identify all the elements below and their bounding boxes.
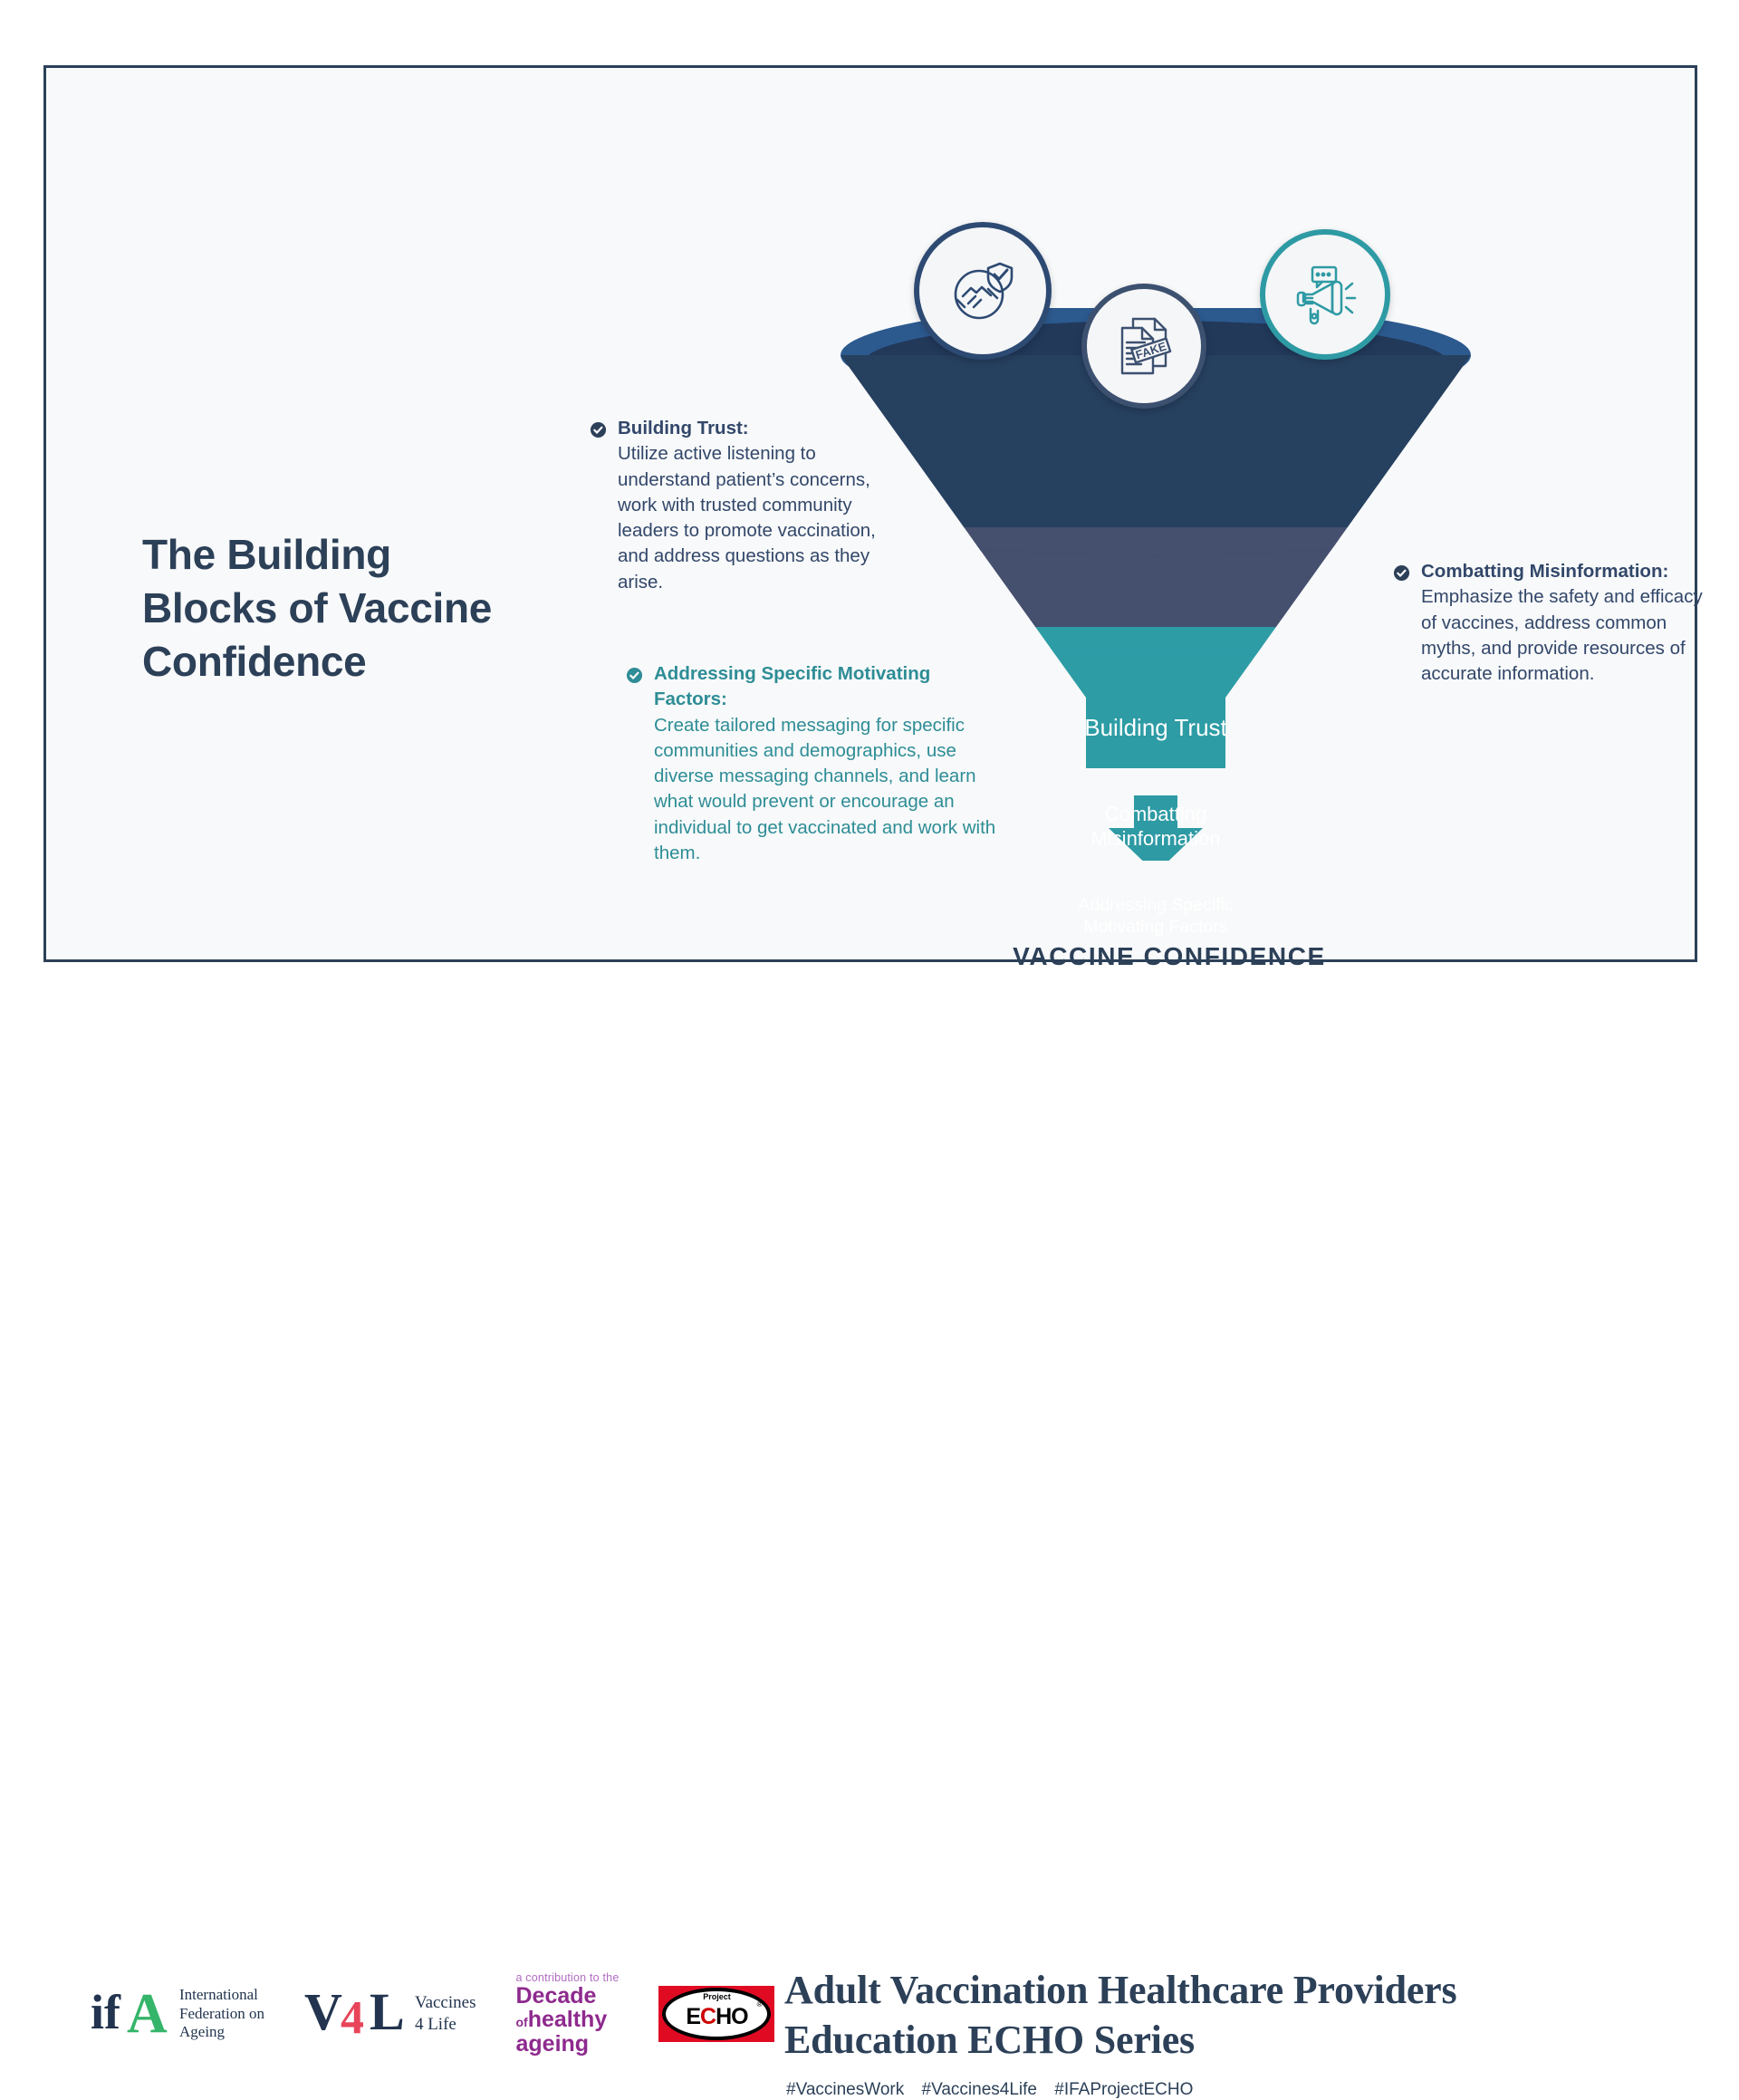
ifa-words-line1: International <box>179 1986 264 2005</box>
decade-healthy-text: healthy <box>528 2007 608 2032</box>
page-title-line3: Confidence <box>142 635 532 689</box>
bullet-text: Building Trust: Utilize active listening… <box>618 416 898 595</box>
echo-project-text: Project <box>703 1992 731 2001</box>
funnel-label-addr-line2: Motivating Factors <box>821 917 1491 939</box>
bullet-text: Combatting Misinformation: Emphasize the… <box>1421 559 1715 687</box>
footer-hashtags: #VaccinesWork #Vaccines4Life #IFAProject… <box>786 2080 1206 2100</box>
megaphone-glyph <box>1289 258 1361 331</box>
v4l-words-line1: Vaccines <box>415 1992 476 2014</box>
check-circle-icon <box>626 667 643 866</box>
ifa-mark-icon: if A <box>91 1986 168 2042</box>
hashtag-vaccines-work: #VaccinesWork <box>786 2080 904 2099</box>
echo-letter-e: E <box>686 2004 700 2029</box>
funnel-label-addressing-factors: Addressing Specific Motivating Factors <box>821 895 1491 939</box>
page-title-line1: The Building <box>142 528 532 582</box>
funnel-label-addr-line1: Addressing Specific <box>821 895 1491 917</box>
ifa-words-line3: Ageing <box>179 2023 264 2042</box>
v4l-mark-v: V <box>304 1986 342 2038</box>
vaccines4life-logo: V 4 L Vaccines 4 Life <box>304 1986 476 2042</box>
echo-letters-ho: HO <box>716 2004 748 2029</box>
echo-wordmark: ECHO <box>686 2004 747 2030</box>
bullet-combatting-misinformation: Combatting Misinformation: Emphasize the… <box>1393 559 1715 687</box>
ifa-mark-a: A <box>127 1986 168 2042</box>
handshake-shield-glyph <box>945 253 1021 329</box>
bullet-text: Addressing Specific Motivating Factors: … <box>654 661 1006 866</box>
page-title: The Building Blocks of Vaccine Confidenc… <box>142 528 532 689</box>
check-circle-icon <box>590 421 607 595</box>
hashtag-vaccines-4-life: #Vaccines4Life <box>922 2080 1037 2099</box>
decade-word-ageing: ageing <box>515 2032 619 2057</box>
v4l-mark-l: L <box>370 1986 405 2038</box>
bullet-body: Utilize active listening to understand p… <box>618 443 876 592</box>
funnel-layer-misinformation <box>821 527 1491 627</box>
hashtag-ifa-project-echo: #IFAProjectECHO <box>1054 2080 1193 2099</box>
v4l-logo-words: Vaccines 4 Life <box>415 1992 476 2036</box>
footer-title-line2: Education ECHO Series <box>784 2016 1654 2066</box>
page-title-line2: Blocks of Vaccine <box>142 582 532 635</box>
bullet-heading: Building Trust: <box>618 416 898 441</box>
decade-small-text: a contribution to the <box>515 1972 619 1984</box>
footer: if A International Federation on Ageing … <box>0 971 1739 1161</box>
bullet-body: Create tailored messaging for specific c… <box>654 715 995 863</box>
echo-letter-c: C <box>700 2004 716 2029</box>
footer-title-line1: Adult Vaccination Healthcare Providers <box>784 1966 1654 2016</box>
bullet-body: Emphasize the safety and efficacy of vac… <box>1421 586 1703 684</box>
echo-oval: Project ECHO ® <box>662 1988 771 2040</box>
decade-of-healthy-ageing-logo: a contribution to the Decade ofhealthy a… <box>515 1972 619 2056</box>
footer-series-title: Adult Vaccination Healthcare Providers E… <box>784 1966 1654 2065</box>
project-echo-logo: Project ECHO ® <box>658 1986 774 2042</box>
ifa-words-line2: Federation on <box>179 2005 264 2024</box>
ifa-mark-if: if <box>91 1988 120 2037</box>
handshake-shield-icon <box>914 222 1052 360</box>
fake-documents-icon: FAKE <box>1081 284 1206 409</box>
check-circle-icon <box>1393 564 1410 687</box>
decade-word-decade: Decade <box>515 1984 619 2008</box>
outcome-label: VACCINE CONFIDENCE <box>988 942 1350 971</box>
decade-word-healthy: ofhealthy <box>515 2008 619 2032</box>
v4l-mark-4: 4 <box>341 1995 364 2042</box>
bullet-addressing-specific-motivating-factors: Addressing Specific Motivating Factors: … <box>626 661 1006 866</box>
bullet-heading: Addressing Specific Motivating Factors: <box>654 661 1006 713</box>
ifa-logo-words: International Federation on Ageing <box>179 1986 264 2042</box>
main-card: The Building Blocks of Vaccine Confidenc… <box>43 65 1697 962</box>
decade-word-of: of <box>515 2015 527 2029</box>
v4l-words-line2: 4 Life <box>415 2014 476 2036</box>
echo-registered-mark: ® <box>757 2000 763 2008</box>
megaphone-icon <box>1260 229 1390 360</box>
infographic-page: The Building Blocks of Vaccine Confidenc… <box>0 0 1739 1161</box>
bullet-heading: Combatting Misinformation: <box>1421 559 1715 584</box>
fake-documents-glyph: FAKE <box>1110 312 1178 381</box>
v4l-mark-icon: V 4 L <box>304 1986 406 2042</box>
ifa-logo: if A International Federation on Ageing <box>91 1986 264 2042</box>
bullet-building-trust: Building Trust: Utilize active listening… <box>590 416 898 595</box>
logo-row: if A International Federation on Ageing … <box>91 1972 774 2056</box>
